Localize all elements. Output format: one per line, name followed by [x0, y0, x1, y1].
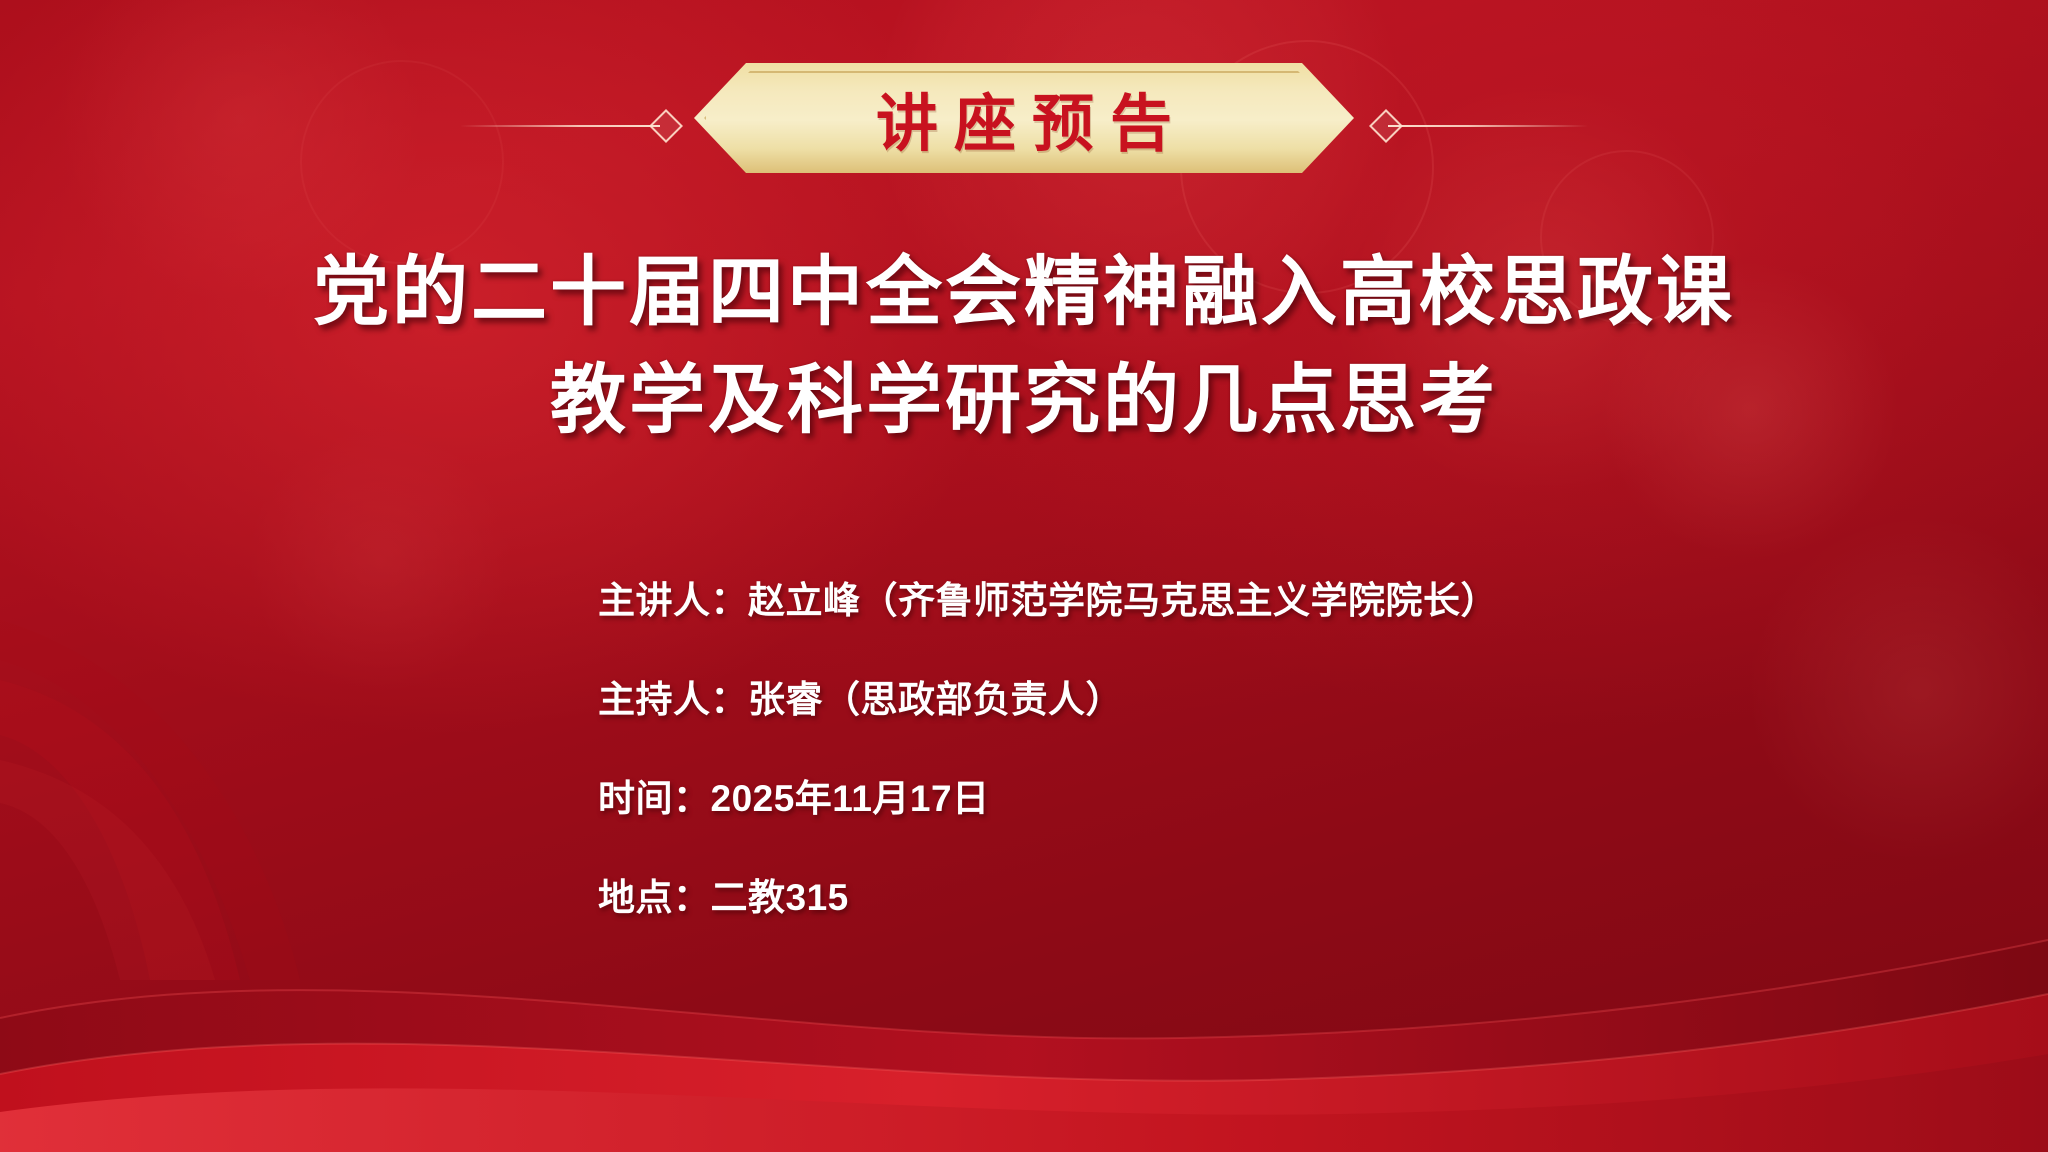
detail-host: 主持人：张睿（思政部负责人） [598, 669, 1498, 723]
right-diamond-icon [1369, 109, 1403, 143]
lecture-announcement-poster: 讲座预告 党的二十届四中全会精神融入高校思政课 教学及科学研究的几点思考 主讲人… [0, 0, 2048, 1152]
left-diamond-icon [649, 109, 683, 143]
detail-time: 时间：2025年11月17日 [598, 768, 1498, 822]
banner-header: 讲座预告 [0, 30, 2048, 160]
bottom-wave-decoration [0, 822, 2048, 1152]
title-line-2: 教学及科学研究的几点思考 [0, 346, 2048, 454]
banner-label: 讲座预告 [694, 63, 1354, 173]
left-divider-line [460, 125, 660, 127]
right-divider-line [1388, 125, 1588, 127]
title-line-1: 党的二十届四中全会精神融入高校思政课 [0, 238, 2048, 346]
page-title: 党的二十届四中全会精神融入高校思政课 教学及科学研究的几点思考 [0, 238, 2048, 454]
bokeh-circle [1750, 520, 2048, 860]
detail-speaker: 主讲人：赵立峰（齐鲁师范学院马克思主义学院院长） [598, 570, 1498, 624]
